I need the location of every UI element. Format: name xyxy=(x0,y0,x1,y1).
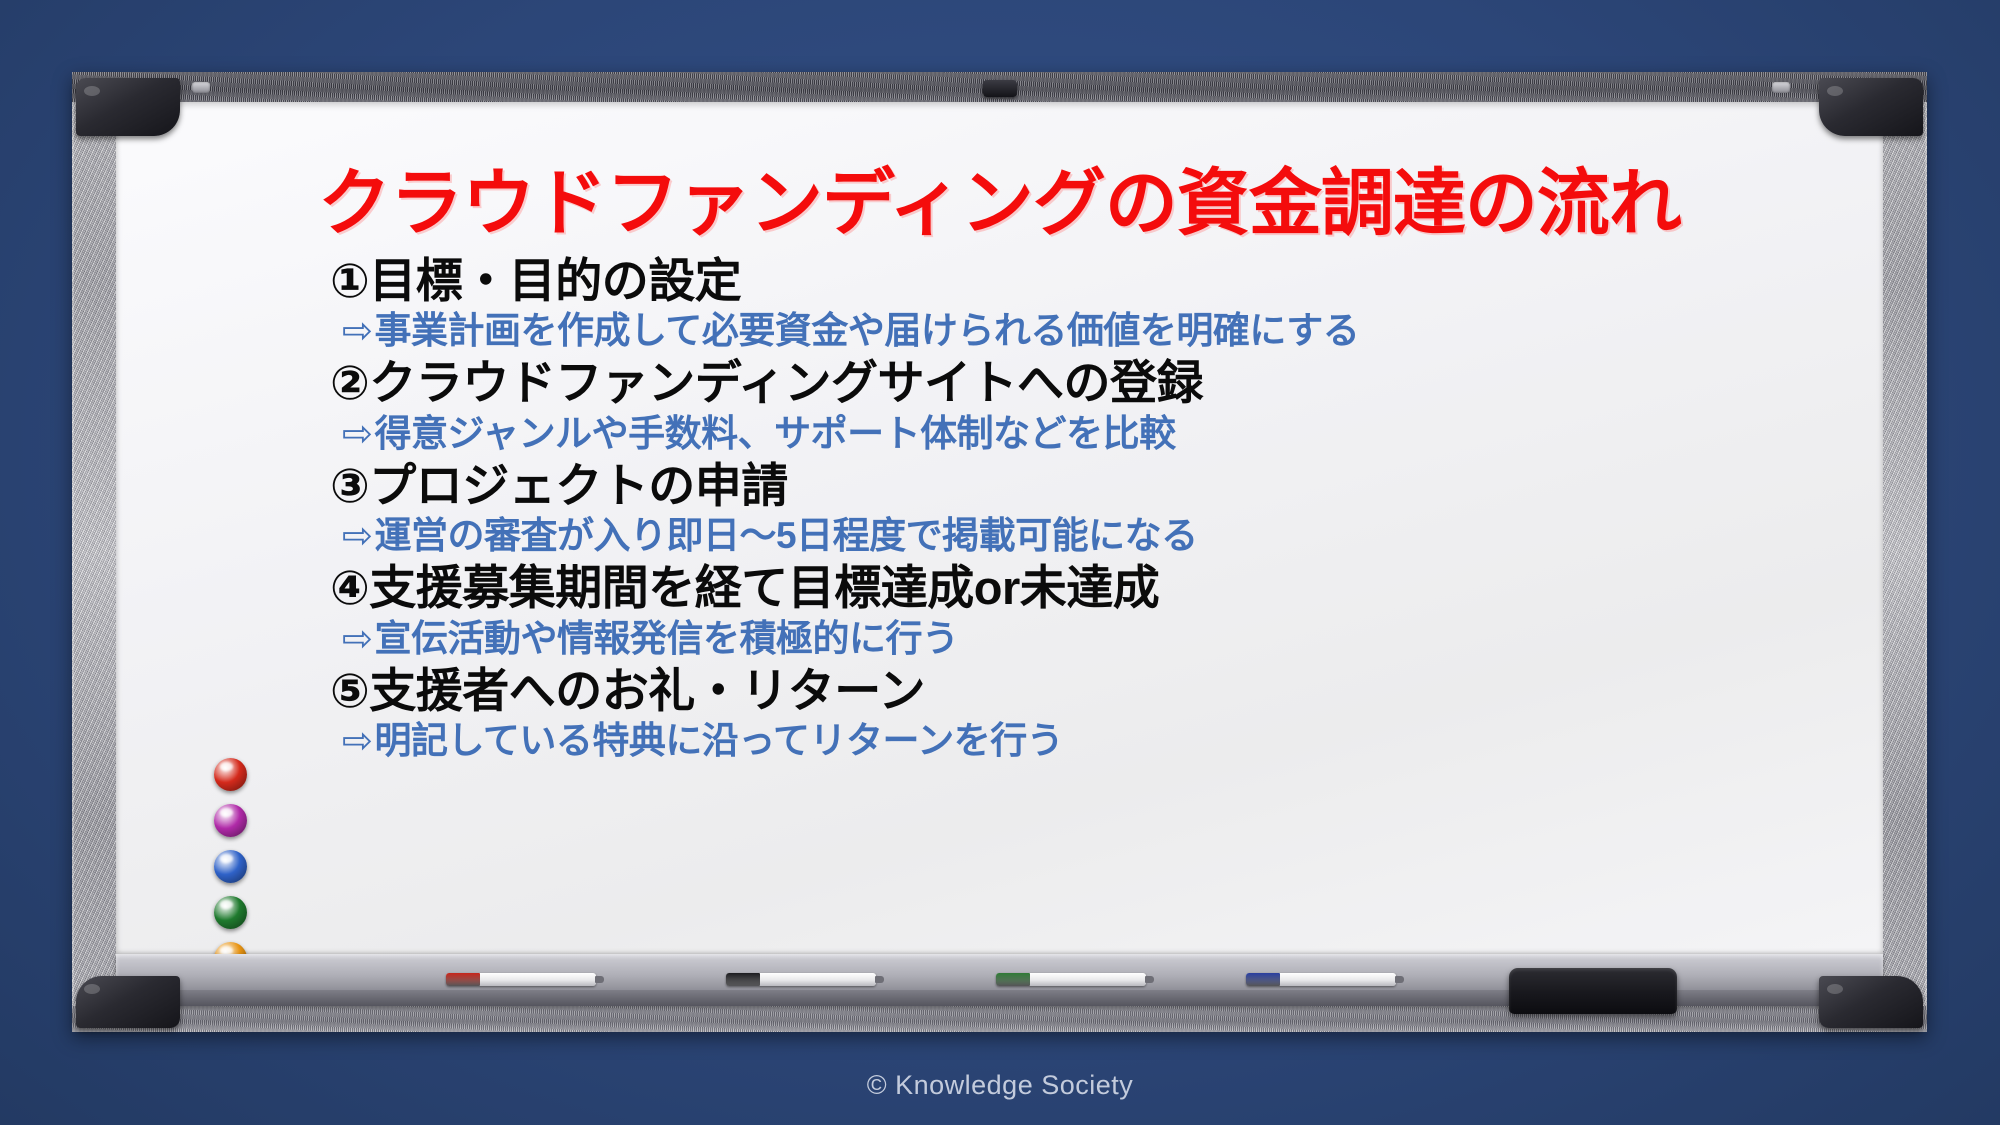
board-screw-right xyxy=(1772,82,1790,93)
step-subtext-label: 事業計画を作成して必要資金や届けられる価値を明確にする xyxy=(375,310,1360,351)
step-subtext: ⇨運営の審査が入り即日～5日程度で掲載可能になる xyxy=(330,512,1843,559)
list-item: ③プロジェクトの申請 ⇨運営の審査が入り即日～5日程度で掲載可能になる xyxy=(330,459,1843,559)
magnet-red[interactable] xyxy=(214,758,247,791)
right-arrow-icon: ⇨ xyxy=(342,307,373,354)
marker-green[interactable] xyxy=(996,973,1146,986)
right-arrow-icon: ⇨ xyxy=(342,717,373,764)
marker-green-cap xyxy=(996,973,1030,986)
step-heading: ⑤支援者へのお礼・リターン xyxy=(330,664,1843,717)
step-subtext-label: 明記している特典に沿ってリターンを行う xyxy=(375,720,1064,761)
step-heading: ③プロジェクトの申請 xyxy=(330,459,1843,512)
step-subtext-label: 宣伝活動や情報発信を積極的に行う xyxy=(375,618,959,659)
step-subtext: ⇨宣伝活動や情報発信を積極的に行う xyxy=(330,615,1843,662)
marker-red-cap xyxy=(446,973,480,986)
board-clip-icon xyxy=(983,80,1017,97)
magnet-blue[interactable] xyxy=(214,850,247,883)
list-item: ④支援募集期間を経て目標達成or未達成 ⇨宣伝活動や情報発信を積極的に行う xyxy=(330,561,1843,661)
marker-black-cap xyxy=(726,973,760,986)
step-subtext-label: 運営の審査が入り即日～5日程度で掲載可能になる xyxy=(375,515,1198,556)
right-arrow-icon: ⇨ xyxy=(342,615,373,662)
step-subtext: ⇨事業計画を作成して必要資金や届けられる価値を明確にする xyxy=(330,307,1843,354)
step-subtext-label: 得意ジャンルや手数料、サポート体制などを比較 xyxy=(375,413,1176,454)
magnet-magenta[interactable] xyxy=(214,804,247,837)
slide-canvas: クラウドファンディングの資金調達の流れ ①目標・目的の設定 ⇨事業計画を作成して… xyxy=(0,0,2000,1125)
list-item: ①目標・目的の設定 ⇨事業計画を作成して必要資金や届けられる価値を明確にする xyxy=(330,254,1843,354)
frame-corner-top-right xyxy=(1819,78,1923,136)
steps-list: ①目標・目的の設定 ⇨事業計画を作成して必要資金や届けられる価値を明確にする ②… xyxy=(330,254,1843,766)
right-arrow-icon: ⇨ xyxy=(342,410,373,457)
whiteboard: クラウドファンディングの資金調達の流れ ①目標・目的の設定 ⇨事業計画を作成して… xyxy=(72,72,1927,1032)
frame-corner-bottom-right xyxy=(1819,976,1923,1028)
magnet-green[interactable] xyxy=(214,896,247,929)
marker-red[interactable] xyxy=(446,973,596,986)
step-heading: ④支援募集期間を経て目標達成or未達成 xyxy=(330,561,1843,614)
marker-blue[interactable] xyxy=(1246,973,1396,986)
marker-black-tip xyxy=(875,976,884,983)
magnet-group xyxy=(214,758,247,975)
marker-red-tip xyxy=(595,976,604,983)
marker-green-tip xyxy=(1145,976,1154,983)
frame-corner-top-left xyxy=(76,78,180,136)
step-heading: ②クラウドファンディングサイトへの登録 xyxy=(330,356,1843,409)
whiteboard-surface: クラウドファンディングの資金調達の流れ ①目標・目的の設定 ⇨事業計画を作成して… xyxy=(116,102,1883,954)
slide-content: クラウドファンディングの資金調達の流れ ①目標・目的の設定 ⇨事業計画を作成して… xyxy=(116,102,1883,954)
list-item: ②クラウドファンディングサイトへの登録 ⇨得意ジャンルや手数料、サポート体制など… xyxy=(330,356,1843,456)
list-item: ⑤支援者へのお礼・リターン ⇨明記している特典に沿ってリターンを行う xyxy=(330,664,1843,764)
footer-credit: © Knowledge Society xyxy=(0,1070,2000,1101)
step-subtext: ⇨得意ジャンルや手数料、サポート体制などを比較 xyxy=(330,410,1843,457)
board-screw-left xyxy=(192,82,210,93)
whiteboard-eraser[interactable] xyxy=(1509,968,1677,1014)
page-title: クラウドファンディングの資金調達の流れ xyxy=(116,144,1883,250)
step-subtext: ⇨明記している特典に沿ってリターンを行う xyxy=(330,717,1843,764)
step-heading: ①目標・目的の設定 xyxy=(330,254,1843,307)
right-arrow-icon: ⇨ xyxy=(342,512,373,559)
marker-blue-tip xyxy=(1395,976,1404,983)
marker-blue-cap xyxy=(1246,973,1280,986)
frame-corner-bottom-left xyxy=(76,976,180,1028)
marker-black[interactable] xyxy=(726,973,876,986)
